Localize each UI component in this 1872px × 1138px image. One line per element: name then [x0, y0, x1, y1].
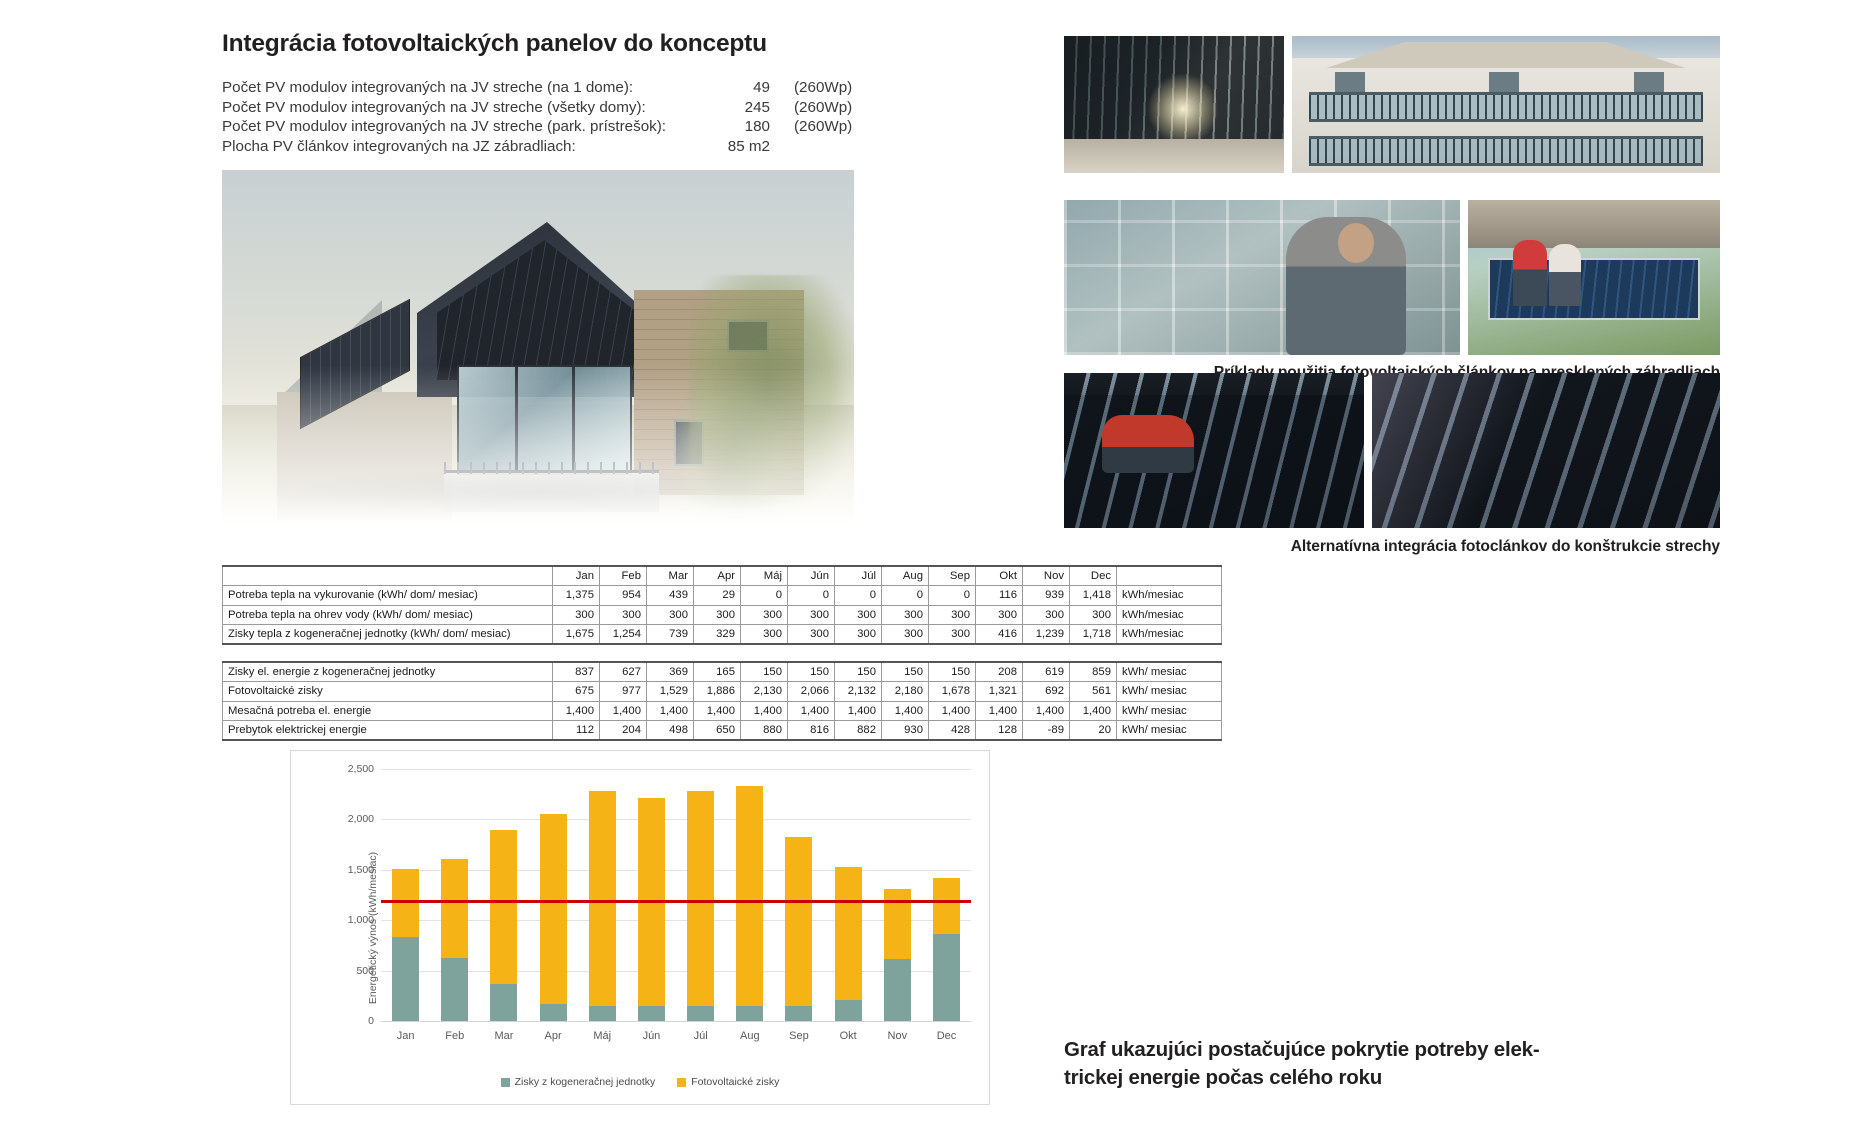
table-cell: 816 [788, 721, 835, 741]
photo-building-facade-balconies [1292, 36, 1720, 173]
table-cell: 300 [741, 625, 788, 645]
chart-threshold-line [381, 900, 971, 903]
chart-y-tick-label: 2,000 [348, 813, 374, 825]
chart-segment-cogen [785, 1006, 812, 1021]
chart-x-tick-label: Jún [643, 1030, 661, 1042]
table-row: Zisky el. energie z kogeneračnej jednotk… [223, 662, 1222, 682]
column-header: Aug [882, 566, 929, 586]
chart-segment-pv [933, 878, 960, 935]
chart-y-tick-label: 500 [356, 965, 374, 977]
spec-value: 85 m2 [700, 137, 770, 157]
table-cell: 300 [976, 605, 1023, 625]
table-corner-cell [223, 566, 553, 586]
chart-segment-pv [835, 867, 862, 1000]
chart-y-tick-label: 0 [368, 1015, 374, 1027]
column-header: Mar [647, 566, 694, 586]
chart-bar-column[interactable]: Nov [873, 769, 922, 1021]
table-cell: 880 [741, 721, 788, 741]
table-cell: 2,130 [741, 682, 788, 702]
chart-stacked-bar[interactable] [540, 814, 567, 1021]
row-unit: kWh/ mesiac [1117, 662, 1222, 682]
table-cell: 128 [976, 721, 1023, 741]
photo-installer-glass-panel [1064, 200, 1460, 355]
render-fade-overlay [222, 170, 854, 525]
chart-x-tick-label: Máj [593, 1030, 611, 1042]
chart-segment-pv [490, 830, 517, 984]
table-cell: 1,254 [600, 625, 647, 645]
table-cell: 300 [835, 605, 882, 625]
table-cell: 20 [1070, 721, 1117, 741]
table-cell: 2,066 [788, 682, 835, 702]
chart-segment-pv [687, 791, 714, 1006]
chart-x-tick-label: Apr [545, 1030, 562, 1042]
chart-x-tick-label: Sep [789, 1030, 809, 1042]
photo-pv-standing-seam-roof [1372, 373, 1720, 528]
table-cell: 300 [788, 605, 835, 625]
table-cell: 1,400 [600, 701, 647, 721]
table-cell: 116 [976, 586, 1023, 606]
chart-x-tick-label: Jan [397, 1030, 415, 1042]
column-header: Feb [600, 566, 647, 586]
caption-roof-integration: Alternatívna integrácia fotoclánkov do k… [1064, 538, 1720, 556]
table-cell: 1,400 [741, 701, 788, 721]
chart-segment-pv [441, 859, 468, 957]
row-label: Potreba tepla na vykurovanie (kWh/ dom/ … [223, 586, 553, 606]
row-unit: kWh/ mesiac [1117, 682, 1222, 702]
table-cell: 1,375 [553, 586, 600, 606]
chart-segment-cogen [736, 1006, 763, 1021]
electricity-table: Zisky el. energie z kogeneračnej jednotk… [222, 661, 1222, 741]
table-row: Potreba tepla na ohrev vody (kWh/ dom/ m… [223, 605, 1222, 625]
chart-segment-cogen [540, 1004, 567, 1021]
table-cell: 1,400 [694, 701, 741, 721]
table-cell: 1,400 [647, 701, 694, 721]
chart-bar-column[interactable]: Dec [922, 769, 971, 1021]
table-header-row: JanFebMarAprMájJúnJúlAugSepOktNovDec [223, 566, 1222, 586]
column-header: Sep [929, 566, 976, 586]
heat-table: JanFebMarAprMájJúnJúlAugSepOktNovDecPotr… [222, 565, 1222, 645]
table-row: Zisky tepla z kogeneračnej jednotky (kWh… [223, 625, 1222, 645]
chart-stacked-bar[interactable] [490, 830, 517, 1021]
table-cell: 1,321 [976, 682, 1023, 702]
table-cell: 204 [600, 721, 647, 741]
spec-list: Počet PV modulov integrovaných na JV str… [222, 78, 872, 156]
chart-bar-column[interactable]: Júl [676, 769, 725, 1021]
table-cell: 0 [835, 586, 882, 606]
table-cell: 1,239 [1023, 625, 1070, 645]
chart-stacked-bar[interactable] [687, 791, 714, 1021]
table-cell: 561 [1070, 682, 1117, 702]
chart-stacked-bar[interactable] [441, 859, 468, 1021]
table-cell: 859 [1070, 662, 1117, 682]
table-row: Mesačná potreba el. energie1,4001,4001,4… [223, 701, 1222, 721]
table-cell: 739 [647, 625, 694, 645]
chart-segment-cogen [687, 1006, 714, 1021]
table-cell: 300 [882, 625, 929, 645]
table-cell: 1,400 [553, 701, 600, 721]
column-header: Júl [835, 566, 882, 586]
table-cell: 300 [929, 625, 976, 645]
chart-stacked-bar[interactable] [589, 791, 616, 1021]
table-cell: 300 [1070, 605, 1117, 625]
table-cell: 112 [553, 721, 600, 741]
chart-segment-pv [785, 837, 812, 1006]
chart-x-tick-label: Aug [740, 1030, 760, 1042]
caption-line: trickej energie počas celého roku [1064, 1064, 1684, 1092]
row-unit: kWh/mesiac [1117, 625, 1222, 645]
chart-bars: JanFebMarAprMájJúnJúlAugSepOktNovDec [381, 769, 971, 1021]
chart-y-tick-label: 1,000 [348, 914, 374, 926]
table-cell: 1,718 [1070, 625, 1117, 645]
chart-legend-item[interactable]: Zisky z kogeneračnej jednotky [501, 1076, 656, 1088]
spec-value: 180 [700, 117, 770, 137]
table-cell: 0 [882, 586, 929, 606]
table-cell: 150 [882, 662, 929, 682]
legend-label: Fotovoltaické zisky [691, 1076, 779, 1088]
page-title: Integrácia fotovoltaických panelov do ko… [222, 30, 872, 58]
chart-bar-column[interactable]: Máj [578, 769, 627, 1021]
table-cell: 1,675 [553, 625, 600, 645]
spec-value: 49 [700, 78, 770, 98]
table-cell: 1,529 [647, 682, 694, 702]
table-cell: 1,886 [694, 682, 741, 702]
photo-roof-installation-worker [1064, 373, 1364, 528]
table-cell: 300 [882, 605, 929, 625]
spec-label: Počet PV modulov integrovaných na JV str… [222, 117, 700, 137]
spec-row: Plocha PV článkov integrovaných na JZ zá… [222, 137, 872, 157]
table-cell: 1,400 [1070, 701, 1117, 721]
chart-segment-cogen [835, 1000, 862, 1021]
row-unit: kWh/mesiac [1117, 605, 1222, 625]
chart-segment-cogen [589, 1006, 616, 1021]
table-cell: 369 [647, 662, 694, 682]
table-cell: 150 [929, 662, 976, 682]
table-row: Prebytok elektrickej energie112204498650… [223, 721, 1222, 741]
table-cell: 300 [600, 605, 647, 625]
chart-stacked-bar[interactable] [884, 889, 911, 1021]
chart-bar-column[interactable]: Jún [627, 769, 676, 1021]
chart-bar-column[interactable]: Aug [725, 769, 774, 1021]
row-label: Zisky el. energie z kogeneračnej jednotk… [223, 662, 553, 682]
chart-y-tick-label: 2,500 [348, 763, 374, 775]
table-cell: 300 [553, 605, 600, 625]
spec-label: Počet PV modulov integrovaných na JV str… [222, 78, 700, 98]
chart-segment-pv [540, 814, 567, 1004]
chart-x-tick-label: Mar [494, 1030, 513, 1042]
legend-label: Zisky z kogeneračnej jednotky [515, 1076, 656, 1088]
chart-stacked-bar[interactable] [736, 786, 763, 1021]
chart-segment-cogen [638, 1006, 665, 1021]
caption-line: Graf ukazujúci postačujúce pokrytie potr… [1064, 1036, 1684, 1064]
table-cell: 882 [835, 721, 882, 741]
chart-legend: Zisky z kogeneračnej jednotkyFotovoltaic… [291, 1076, 989, 1088]
photo-pv-balustrade-interior [1064, 36, 1284, 173]
unit-header [1117, 566, 1222, 586]
spec-row: Počet PV modulov integrovaných na JV str… [222, 98, 872, 118]
table-cell: 627 [600, 662, 647, 682]
table-cell: 0 [929, 586, 976, 606]
chart-stacked-bar[interactable] [835, 867, 862, 1021]
table-cell: 619 [1023, 662, 1070, 682]
table-cell: 650 [694, 721, 741, 741]
spec-unit: (260Wp) [770, 117, 852, 137]
photo-people-on-pv-balcony [1468, 200, 1720, 355]
column-header: Nov [1023, 566, 1070, 586]
table-cell: 930 [882, 721, 929, 741]
table-cell: 150 [788, 662, 835, 682]
table-cell: 0 [788, 586, 835, 606]
table-cell: 1,400 [788, 701, 835, 721]
chart-gridline [381, 1021, 971, 1022]
column-header: Jan [553, 566, 600, 586]
chart-bar-column[interactable]: Sep [774, 769, 823, 1021]
table-cell: 1,400 [929, 701, 976, 721]
table-cell: 150 [741, 662, 788, 682]
row-unit: kWh/ mesiac [1117, 721, 1222, 741]
table-cell: 165 [694, 662, 741, 682]
legend-swatch-icon [677, 1078, 686, 1087]
table-cell: 29 [694, 586, 741, 606]
table-cell: 300 [1023, 605, 1070, 625]
chart-bar-column[interactable]: Jan [381, 769, 430, 1021]
table-cell: -89 [1023, 721, 1070, 741]
table-row: Fotovoltaické zisky6759771,5291,8862,130… [223, 682, 1222, 702]
energy-chart: Energetický výnos (kWh/mesiac) 05001,000… [290, 750, 990, 1105]
row-label: Mesačná potreba el. energie [223, 701, 553, 721]
table-cell: 416 [976, 625, 1023, 645]
row-label: Potreba tepla na ohrev vody (kWh/ dom/ m… [223, 605, 553, 625]
table-cell: 1,400 [835, 701, 882, 721]
column-header: Máj [741, 566, 788, 586]
chart-segment-pv [736, 786, 763, 1006]
row-label: Fotovoltaické zisky [223, 682, 553, 702]
spec-unit: (260Wp) [770, 78, 852, 98]
legend-swatch-icon [501, 1078, 510, 1087]
chart-bar-column[interactable]: Apr [529, 769, 578, 1021]
table-cell: 1,418 [1070, 586, 1117, 606]
chart-stacked-bar[interactable] [638, 798, 665, 1021]
table-cell: 300 [694, 605, 741, 625]
table-cell: 954 [600, 586, 647, 606]
table-cell: 208 [976, 662, 1023, 682]
column-header: Apr [694, 566, 741, 586]
table-cell: 2,180 [882, 682, 929, 702]
table-cell: 300 [647, 605, 694, 625]
column-header: Jún [788, 566, 835, 586]
spec-value: 245 [700, 98, 770, 118]
chart-segment-cogen [884, 959, 911, 1021]
row-unit: kWh/mesiac [1117, 586, 1222, 606]
chart-bar-column[interactable]: Mar [479, 769, 528, 1021]
left-column: Integrácia fotovoltaických panelov do ko… [222, 30, 872, 156]
table-cell: 300 [788, 625, 835, 645]
spec-row: Počet PV modulov integrovaných na JV str… [222, 78, 872, 98]
chart-y-tick-label: 1,500 [348, 864, 374, 876]
column-header: Okt [976, 566, 1023, 586]
chart-x-tick-label: Júl [694, 1030, 708, 1042]
table-row: Potreba tepla na vykurovanie (kWh/ dom/ … [223, 586, 1222, 606]
chart-bar-column[interactable]: Feb [430, 769, 479, 1021]
chart-x-tick-label: Dec [937, 1030, 957, 1042]
table-cell: 837 [553, 662, 600, 682]
spec-unit: (260Wp) [770, 98, 852, 118]
table-cell: 150 [835, 662, 882, 682]
table-cell: 0 [741, 586, 788, 606]
table-cell: 439 [647, 586, 694, 606]
chart-segment-cogen [392, 937, 419, 1021]
row-unit: kWh/ mesiac [1117, 701, 1222, 721]
table-cell: 1,400 [1023, 701, 1070, 721]
chart-stacked-bar[interactable] [785, 837, 812, 1021]
concept-render-image [222, 170, 854, 525]
spec-label: Plocha PV článkov integrovaných na JZ zá… [222, 137, 700, 157]
table-cell: 692 [1023, 682, 1070, 702]
chart-x-tick-label: Nov [888, 1030, 908, 1042]
row-label: Zisky tepla z kogeneračnej jednotky (kWh… [223, 625, 553, 645]
chart-stacked-bar[interactable] [392, 869, 419, 1021]
table-cell: 300 [929, 605, 976, 625]
chart-segment-pv [589, 791, 616, 1006]
table-cell: 498 [647, 721, 694, 741]
spec-label: Počet PV modulov integrovaných na JV str… [222, 98, 700, 118]
row-label: Prebytok elektrickej energie [223, 721, 553, 741]
table-cell: 300 [741, 605, 788, 625]
table-cell: 1,400 [976, 701, 1023, 721]
chart-legend-item[interactable]: Fotovoltaické zisky [677, 1076, 779, 1088]
table-cell: 1,400 [882, 701, 929, 721]
chart-plot-area: 05001,0001,5002,0002,500JanFebMarAprMájJ… [381, 769, 971, 1021]
chart-bar-column[interactable]: Okt [824, 769, 873, 1021]
table-cell: 977 [600, 682, 647, 702]
chart-x-tick-label: Okt [840, 1030, 857, 1042]
table-cell: 939 [1023, 586, 1070, 606]
chart-segment-cogen [490, 984, 517, 1021]
table-cell: 1,678 [929, 682, 976, 702]
poster-page: Integrácia fotovoltaických panelov do ko… [0, 0, 1872, 1138]
table-cell: 428 [929, 721, 976, 741]
chart-segment-cogen [441, 958, 468, 1021]
chart-segment-cogen [933, 934, 960, 1021]
table-cell: 329 [694, 625, 741, 645]
caption-chart: Graf ukazujúci postačujúce pokrytie potr… [1064, 1036, 1684, 1092]
table-cell: 2,132 [835, 682, 882, 702]
table-cell: 300 [835, 625, 882, 645]
table-cell: 675 [553, 682, 600, 702]
spec-row: Počet PV modulov integrovaných na JV str… [222, 117, 872, 137]
chart-x-tick-label: Feb [445, 1030, 464, 1042]
column-header: Dec [1070, 566, 1117, 586]
